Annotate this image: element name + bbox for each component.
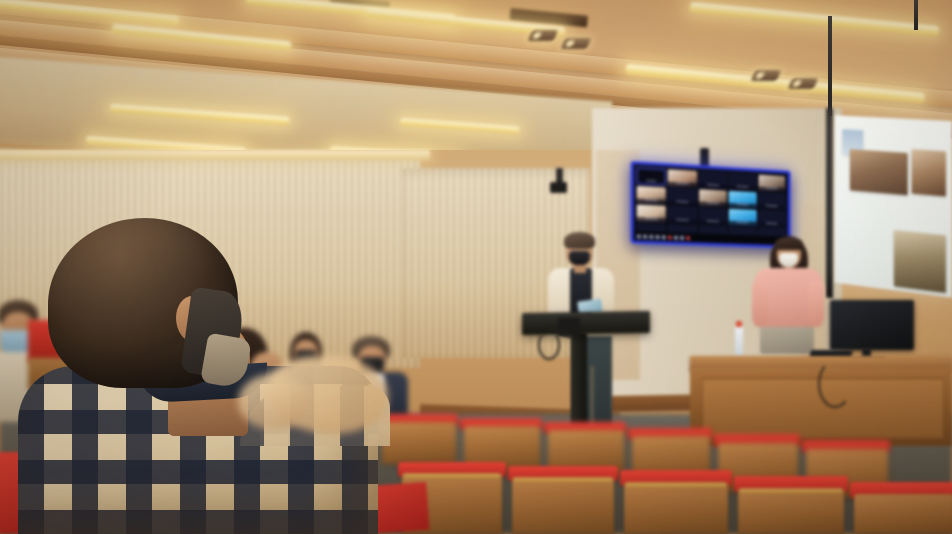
seat-trim: [740, 489, 842, 493]
presenter-hair: [564, 232, 595, 249]
participant-name-label: Participant: [729, 185, 756, 190]
assistant-hair-front: [775, 237, 803, 250]
participant-tile[interactable]: Speaker: [637, 168, 666, 186]
auditorium-scene: SpeakerParticipantParticipantParticipant…: [0, 0, 952, 534]
mic-icon[interactable]: [637, 234, 641, 238]
video-call-tv[interactable]: SpeakerParticipantParticipantParticipant…: [631, 161, 791, 248]
raised-hand-motion-blur: [238, 374, 310, 430]
participant-tile[interactable]: Participant: [699, 207, 727, 224]
participant-tile[interactable]: Participant: [637, 205, 666, 223]
participant-name-label: Participant: [668, 182, 697, 188]
seat-back: [512, 477, 614, 534]
seat-back: [854, 494, 952, 534]
bottle-cap: [736, 321, 742, 327]
chat-icon[interactable]: [662, 235, 666, 239]
seat-back: [382, 422, 456, 464]
seat-trim: [404, 474, 500, 478]
desk-monitor[interactable]: [830, 300, 914, 350]
desk-cable: [818, 360, 852, 408]
seat-back: [624, 482, 728, 534]
lectern: [522, 311, 650, 335]
camera-rig-cable: [538, 330, 560, 360]
participant-tile[interactable]: Participant: [668, 188, 697, 206]
participant-tile[interactable]: Participant: [758, 175, 785, 192]
presenter-face-mask: [569, 251, 590, 265]
seat-back: [738, 488, 844, 534]
leave-icon[interactable]: [686, 236, 690, 240]
participant-name-label: Participant: [729, 203, 756, 208]
participant-tile[interactable]: Participant: [699, 171, 727, 189]
slide-photo: [850, 149, 908, 195]
recessed-spotlight: [561, 38, 591, 49]
participant-tile[interactable]: Participant: [668, 206, 697, 223]
participant-name-label: Participant: [637, 217, 666, 222]
share-screen-icon[interactable]: [649, 234, 653, 238]
water-bottle[interactable]: [735, 326, 743, 356]
seat-trim: [514, 478, 612, 482]
assistant-left-arm: [752, 280, 768, 326]
participant-name-label: Participant: [758, 222, 785, 227]
ceiling-light-tube: [690, 2, 940, 36]
recessed-spotlight: [751, 70, 781, 81]
participant-tile[interactable]: Participant: [729, 173, 756, 190]
ceiling-camera-icon: [550, 182, 567, 193]
recessed-spotlight: [528, 30, 558, 41]
record-icon[interactable]: [668, 235, 672, 239]
camera-icon[interactable]: [643, 234, 647, 238]
assistant-right-arm: [808, 280, 824, 326]
projection-screen: [835, 115, 952, 298]
participant-tile[interactable]: Participant: [668, 169, 697, 187]
participant-name-label: Participant: [668, 200, 697, 205]
participant-name-label: Participant: [637, 198, 666, 203]
participants-icon[interactable]: [655, 235, 659, 239]
participant-tile[interactable]: Participant: [637, 186, 666, 204]
projector-screen-edge: [826, 108, 833, 299]
participant-name-label: Participant: [758, 204, 785, 209]
participant-name-label: Participant: [699, 183, 727, 189]
participant-tile[interactable]: Participant: [699, 189, 727, 206]
recessed-spotlight: [788, 78, 818, 89]
participant-name-label: Participant: [729, 221, 756, 226]
participant-tile[interactable]: Participant: [758, 210, 785, 227]
slide-photo: [912, 149, 946, 196]
slide-photo: [894, 230, 946, 293]
wall-light-valance: [0, 150, 430, 160]
projector-screen-drop-cord: [828, 16, 832, 116]
more-options-icon[interactable]: [680, 235, 684, 239]
presentation-slide: [835, 115, 952, 298]
participant-name-label: Participant: [699, 219, 727, 224]
participant-tile[interactable]: Participant: [729, 191, 756, 208]
participant-name-label: Speaker: [638, 179, 665, 185]
reactions-icon[interactable]: [674, 235, 678, 239]
projector-screen-drop-cord: [914, 0, 918, 30]
participant-name-label: Participant: [758, 186, 785, 191]
wall-baseboard: [610, 394, 700, 412]
seat-trim: [626, 483, 726, 487]
participant-name-label: Participant: [699, 201, 727, 206]
participant-name-label: Participant: [668, 218, 697, 223]
participant-tile[interactable]: Participant: [729, 209, 756, 226]
participant-tile[interactable]: Participant: [758, 192, 785, 209]
